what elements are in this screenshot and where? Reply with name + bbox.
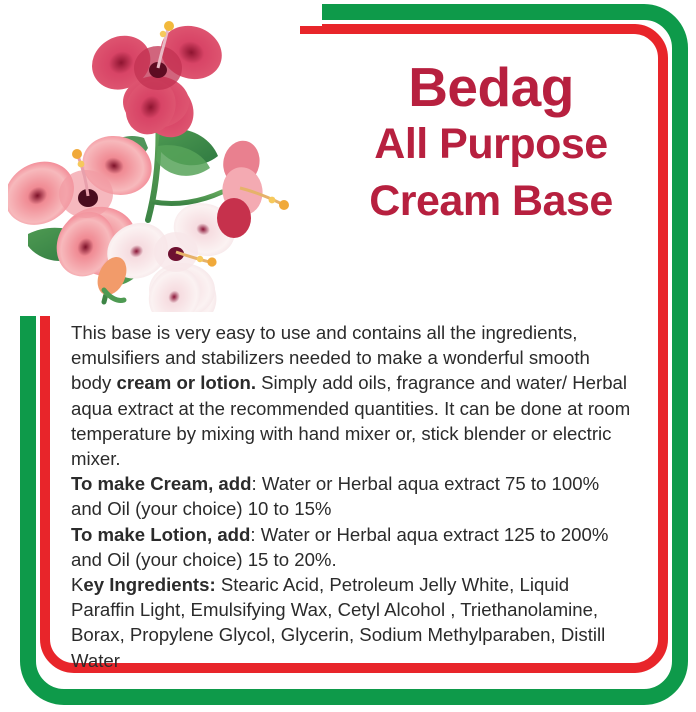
product-label: Bedag All Purpose Cream Base This base i… (0, 0, 696, 712)
label-body-copy: This base is very easy to use and contai… (71, 320, 631, 673)
title-block: Bedag All Purpose Cream Base (336, 58, 646, 230)
product-line-2: Cream Base (336, 173, 646, 230)
ingredients-label-lead: K (71, 574, 83, 595)
hibiscus-flower-artwork (8, 6, 308, 312)
brand-name: Bedag (336, 58, 646, 116)
product-line-1: All Purpose (336, 116, 646, 173)
lotion-instruction: To make Lotion, add: Water or Herbal aqu… (71, 522, 631, 572)
cream-instruction: To make Cream, add: Water or Herbal aqua… (71, 471, 631, 521)
ingredients-label: ey Ingredients: (83, 574, 215, 595)
cream-instruction-label: To make Cream, add (71, 473, 252, 494)
lotion-instruction-label: To make Lotion, add (71, 524, 250, 545)
description-paragraph: This base is very easy to use and contai… (71, 320, 631, 471)
ingredients-line: Key Ingredients: Stearic Acid, Petroleum… (71, 572, 631, 673)
description-emphasis: cream or lotion. (117, 372, 256, 393)
